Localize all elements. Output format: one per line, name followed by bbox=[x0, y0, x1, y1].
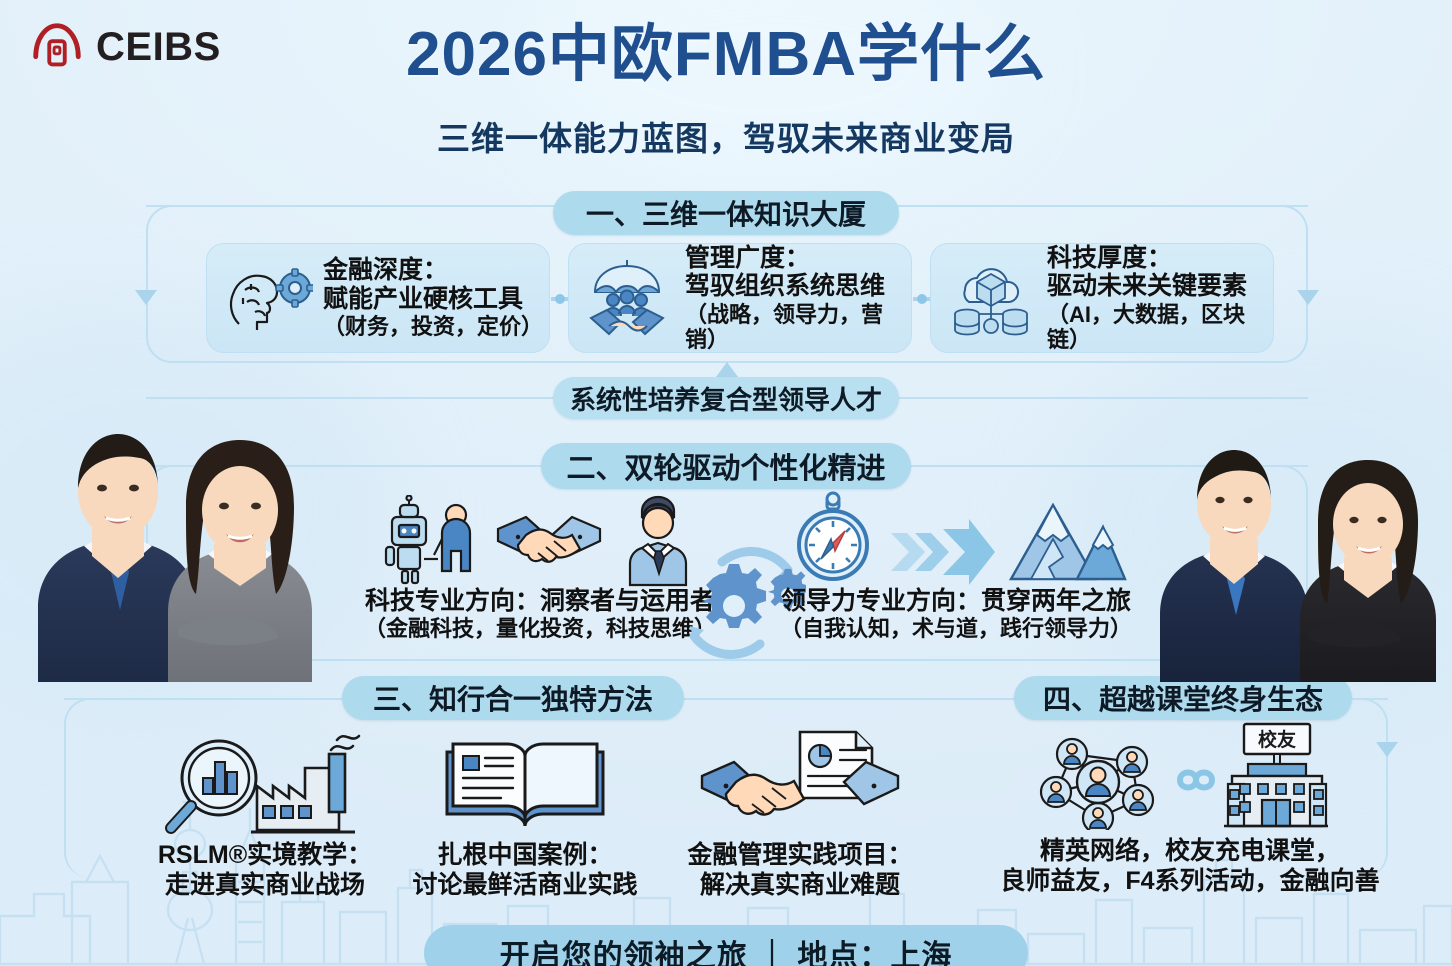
connector-line-s4-right bbox=[1350, 698, 1388, 700]
connector-line-s3-left bbox=[64, 698, 344, 700]
mountain-icon bbox=[1007, 495, 1127, 587]
ecosystem-icons: 校友 bbox=[990, 726, 1390, 830]
method-item-project-line1: 金融管理实践项目： bbox=[650, 840, 950, 870]
card-title-line1: 金融深度： bbox=[323, 256, 535, 285]
business-pair-right-photo bbox=[1152, 380, 1452, 682]
connector-line-s1-left bbox=[146, 205, 556, 207]
method-item-rslm-line2: 走进真实商业战场 bbox=[120, 870, 410, 900]
card-subtitle: （战略，领导力，营销） bbox=[685, 302, 897, 352]
cloud-cube-database-icon bbox=[945, 256, 1037, 340]
connector-arrow-right-down bbox=[1297, 290, 1319, 305]
ecosystem-line2: 良师益友，F4系列活动，金融向善 bbox=[990, 866, 1390, 896]
card-title-line2: 驱动未来关键要素 bbox=[1047, 272, 1259, 301]
card-connector-dot-1 bbox=[551, 292, 569, 304]
method-item-rslm[interactable]: RSLM®实境教学： 走进真实商业战场 bbox=[120, 730, 410, 900]
connector-line-s2-left bbox=[146, 465, 544, 467]
track-leadership[interactable]: 领导力专业方向：贯穿两年之旅 （自我认知，术与道，践行领导力） bbox=[756, 495, 1156, 642]
section-one-header: 一、三维一体知识大厦 bbox=[553, 191, 899, 235]
section-two-header: 二、双轮驱动个性化精进 bbox=[541, 443, 911, 489]
card-title-line2: 赋能产业硬核工具 bbox=[323, 285, 535, 314]
footer-cta[interactable]: 开启您的领袖之旅 ｜ 地点：上海 bbox=[424, 925, 1028, 966]
section-one-summary: 系统性培养复合型领导人才 bbox=[553, 377, 899, 419]
method-item-case-line1: 扎根中国案例： bbox=[390, 840, 660, 870]
infographic-canvas: CEIBS 2026中欧FMBA学什么 三维一体能力蓝图，驾驭未来商业变局 一、… bbox=[0, 0, 1452, 966]
magnifier-factory-icon bbox=[120, 730, 410, 834]
knowledge-card-technology[interactable]: 科技厚度： 驱动未来关键要素 （AI，大数据，区块链） bbox=[930, 243, 1274, 353]
method-item-case-line2: 讨论最鲜活商业实践 bbox=[390, 870, 660, 900]
connector-arrow-mid-up bbox=[716, 362, 738, 377]
ecosystem-line1: 精英网络，校友充电课堂， bbox=[990, 836, 1390, 866]
robot-handshake-icon bbox=[376, 495, 486, 587]
method-item-case[interactable]: 扎根中国案例： 讨论最鲜活商业实践 bbox=[390, 730, 660, 900]
compass-icon bbox=[785, 491, 881, 587]
business-pair-left-photo bbox=[18, 360, 348, 682]
track-leadership-line1: 领导力专业方向：贯穿两年之旅 bbox=[756, 587, 1156, 616]
card-subtitle: （AI，大数据，区块链） bbox=[1047, 302, 1259, 352]
knowledge-card-management[interactable]: 管理广度： 驾驭组织系统思维 （战略，领导力，营销） bbox=[568, 243, 912, 353]
card-title-line2: 驾驭组织系统思维 bbox=[685, 272, 897, 301]
handshake-icon bbox=[494, 495, 604, 587]
brain-gear-icon bbox=[221, 256, 313, 340]
page-subtitle: 三维一体能力蓝图，驾驭未来商业变局 bbox=[0, 112, 1452, 160]
svg-text:校友: 校友 bbox=[1258, 728, 1296, 751]
chevron-arrows-icon bbox=[889, 517, 999, 587]
card-subtitle: （财务，投资，定价） bbox=[323, 314, 535, 339]
section-three-header: 三、知行合一独特方法 bbox=[342, 676, 684, 720]
connector-line-s3-right bbox=[682, 698, 1016, 700]
connector-line-mid-left bbox=[146, 397, 556, 399]
knowledge-card-finance[interactable]: 金融深度： 赋能产业硬核工具 （财务，投资，定价） bbox=[206, 243, 550, 353]
connector-line-mid-right bbox=[896, 397, 1308, 399]
card-title-line1: 科技厚度： bbox=[1047, 244, 1259, 273]
connector-line-s1-right bbox=[896, 205, 1308, 207]
ecosystem-item[interactable]: 校友 bbox=[990, 726, 1390, 896]
method-item-rslm-line1: RSLM®实境教学： bbox=[120, 840, 410, 870]
method-item-project[interactable]: 金融管理实践项目： 解决真实商业难题 bbox=[650, 730, 950, 900]
page-title: 2026中欧FMBA学什么 bbox=[0, 22, 1452, 88]
section-four-header: 四、超越课堂终身生态 bbox=[1014, 676, 1352, 720]
track-leadership-line2: （自我认知，术与道，践行领导力） bbox=[756, 616, 1156, 642]
connector-arrow-left-down bbox=[135, 290, 157, 305]
track-leadership-icons bbox=[756, 495, 1156, 587]
connector-line-s2-right bbox=[908, 465, 1308, 467]
umbrella-team-handshake-icon bbox=[583, 256, 675, 340]
card-connector-dot-2 bbox=[913, 292, 931, 304]
open-book-icon bbox=[390, 730, 660, 834]
method-item-project-line2: 解决真实商业难题 bbox=[650, 870, 950, 900]
card-title-line1: 管理广度： bbox=[685, 244, 897, 273]
handshake-report-icon bbox=[650, 730, 950, 834]
